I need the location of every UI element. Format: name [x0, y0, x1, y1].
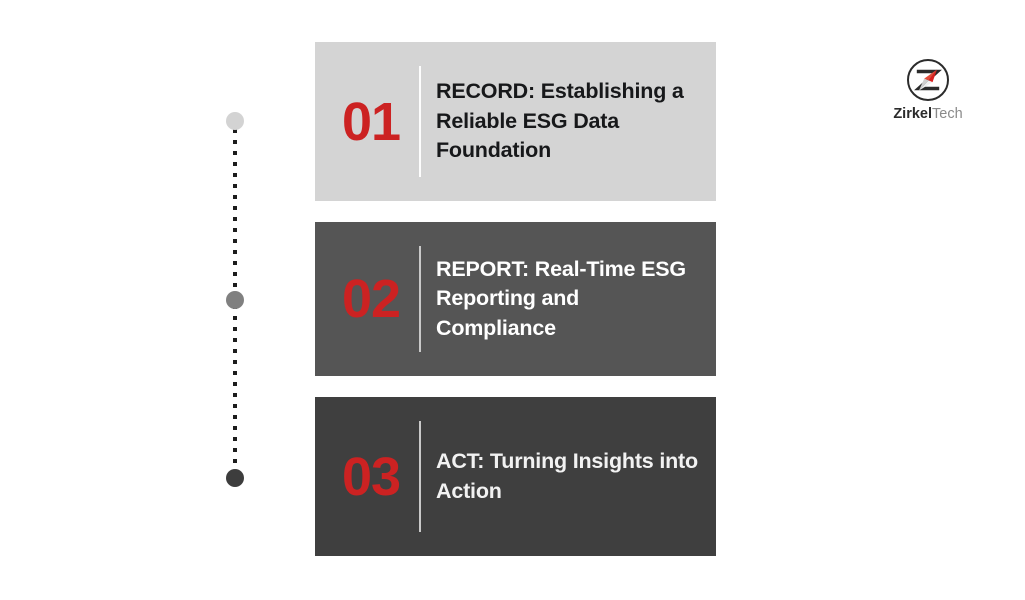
- step-number-02: 02: [315, 272, 419, 326]
- step-card-03[interactable]: 03 ACT: Turning Insights into Action: [315, 397, 716, 556]
- timeline-dot-step-3[interactable]: [226, 469, 244, 487]
- brand-logo[interactable]: ZirkelTech: [878, 58, 978, 122]
- step-title-03: ACT: Turning Insights into Action: [419, 447, 716, 506]
- logo-wordmark: ZirkelTech: [878, 107, 978, 122]
- logo-word-tech: Tech: [932, 106, 963, 122]
- step-divider-02: [419, 246, 421, 352]
- step-title-01: RECORD: Establishing a Reliable ESG Data…: [419, 77, 716, 166]
- zirkel-z-compass-icon: [906, 58, 950, 102]
- step-divider-03: [419, 421, 421, 532]
- timeline-dot-step-2[interactable]: [226, 291, 244, 309]
- step-card-02[interactable]: 02 REPORT: Real-Time ESG Reporting and C…: [315, 222, 716, 376]
- step-number-03: 03: [315, 450, 419, 504]
- logo-word-zirkel: Zirkel: [893, 106, 932, 122]
- step-title-02: REPORT: Real-Time ESG Reporting and Comp…: [419, 255, 716, 344]
- timeline-rail: [226, 110, 244, 492]
- steps-list: 01 RECORD: Establishing a Reliable ESG D…: [315, 42, 716, 556]
- step-card-01[interactable]: 01 RECORD: Establishing a Reliable ESG D…: [315, 42, 716, 201]
- step-number-01: 01: [315, 95, 419, 149]
- timeline-dot-step-1[interactable]: [226, 112, 244, 130]
- step-divider-01: [419, 66, 421, 177]
